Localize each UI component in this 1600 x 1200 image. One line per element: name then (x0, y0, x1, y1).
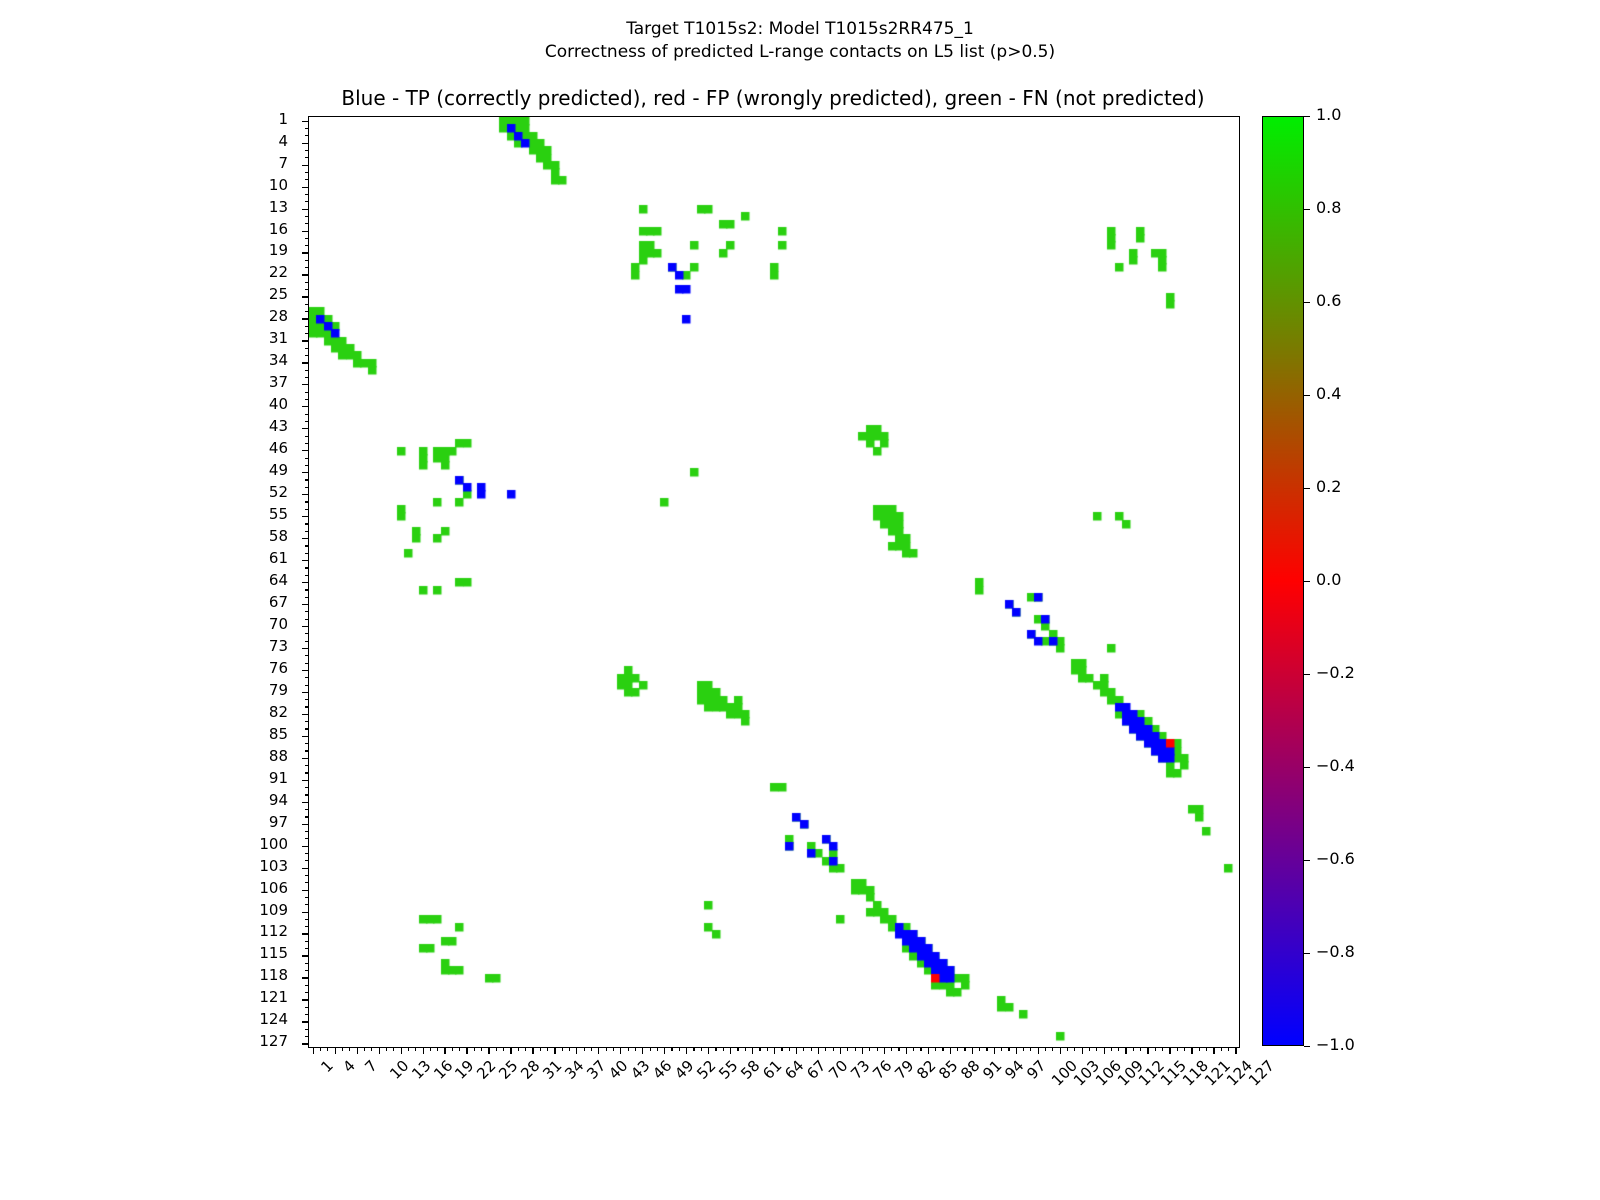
y-tick-label: 109 (259, 903, 288, 918)
x-tick-major (664, 1047, 665, 1054)
colorbar-tick-label: 1.0 (1316, 107, 1341, 123)
contact-map-canvas (309, 117, 1239, 1047)
x-tick-minor (957, 1047, 958, 1051)
figure-title-line-2: Correctness of predicted L-range contact… (0, 41, 1600, 64)
x-tick-major (1125, 1047, 1126, 1054)
y-tick-label: 121 (259, 990, 288, 1005)
y-tick-major (302, 912, 309, 913)
x-tick-minor (1184, 1047, 1185, 1051)
x-tick-minor (1045, 1047, 1046, 1051)
y-tick-major (302, 121, 309, 122)
x-tick-minor (935, 1047, 936, 1051)
x-tick-major (554, 1047, 555, 1054)
y-tick-minor (305, 223, 309, 224)
x-tick-minor (1074, 1047, 1075, 1051)
y-tick-minor (305, 465, 309, 466)
x-tick-major (928, 1047, 929, 1054)
x-tick-major (818, 1047, 819, 1054)
colorbar-tick (1304, 116, 1310, 117)
y-tick-major (302, 472, 309, 473)
x-tick-minor (562, 1047, 563, 1051)
y-tick-minor (305, 194, 309, 195)
colorbar-tick (1304, 209, 1310, 210)
y-tick-minor (305, 150, 309, 151)
x-tick-minor (393, 1047, 394, 1051)
y-tick-minor (305, 597, 309, 598)
y-tick-minor (305, 728, 309, 729)
figure-title-line-1: Target T1015s2: Model T1015s2RR475_1 (0, 18, 1600, 41)
colorbar: 1.00.80.60.40.20.0−0.2−0.4−0.6−0.8−1.0 (1262, 116, 1304, 1046)
x-tick-minor (855, 1047, 856, 1051)
x-tick-minor (942, 1047, 943, 1051)
y-tick-minor (305, 267, 309, 268)
colorbar-tick-label: 0.8 (1316, 200, 1341, 216)
x-tick-minor (459, 1047, 460, 1051)
y-tick-minor (305, 853, 309, 854)
y-tick-label: 13 (269, 200, 288, 215)
y-tick-major (302, 868, 309, 869)
y-tick-major (302, 714, 309, 715)
y-tick-major (302, 802, 309, 803)
y-tick-minor (305, 963, 309, 964)
x-tick-minor (671, 1047, 672, 1051)
x-tick-major (1016, 1047, 1017, 1054)
y-tick-major (302, 1021, 309, 1022)
y-tick-minor (305, 501, 309, 502)
y-tick-minor (305, 216, 309, 217)
x-tick-major (401, 1047, 402, 1054)
y-tick-label: 28 (269, 309, 288, 324)
y-tick-label: 1 (278, 112, 288, 127)
colorbar-tick (1304, 302, 1310, 303)
y-tick-minor (305, 1029, 309, 1030)
y-tick-minor (305, 172, 309, 173)
x-tick-label: 97 (1024, 1058, 1048, 1082)
x-tick-major (532, 1047, 533, 1054)
y-tick-label: 16 (269, 222, 288, 237)
x-tick-minor (891, 1047, 892, 1051)
y-tick-minor (305, 355, 309, 356)
y-tick-label: 79 (269, 683, 288, 698)
x-tick-minor (518, 1047, 519, 1051)
x-tick-major (1060, 1047, 1061, 1054)
x-tick-minor (503, 1047, 504, 1051)
y-tick-minor (305, 838, 309, 839)
y-tick-minor (305, 641, 309, 642)
y-tick-label: 127 (259, 1034, 288, 1049)
x-tick-minor (496, 1047, 497, 1051)
x-tick-minor (877, 1047, 878, 1051)
x-tick-minor (715, 1047, 716, 1051)
y-tick-minor (305, 882, 309, 883)
y-tick-minor (305, 545, 309, 546)
y-tick-label: 55 (269, 507, 288, 522)
x-tick-minor (811, 1047, 812, 1051)
y-tick-minor (305, 1007, 309, 1008)
y-tick-label: 49 (269, 463, 288, 478)
y-tick-minor (305, 750, 309, 751)
x-tick-minor (1067, 1047, 1068, 1051)
y-tick-major (302, 758, 309, 759)
y-tick-label: 124 (259, 1012, 288, 1027)
x-tick-minor (635, 1047, 636, 1051)
x-tick-label: 127 (1247, 1058, 1278, 1089)
x-tick-major (1082, 1047, 1083, 1054)
y-tick-major (302, 604, 309, 605)
x-tick-minor (327, 1047, 328, 1051)
x-tick-minor (320, 1047, 321, 1051)
y-tick-minor (305, 531, 309, 532)
y-tick-label: 46 (269, 441, 288, 456)
x-tick-minor (569, 1047, 570, 1051)
x-tick-minor (474, 1047, 475, 1051)
x-tick-major (972, 1047, 973, 1054)
y-tick-major (302, 1043, 309, 1044)
y-tick-minor (305, 619, 309, 620)
x-tick-minor (481, 1047, 482, 1051)
y-tick-major (302, 999, 309, 1000)
x-tick-major (730, 1047, 731, 1054)
x-tick-major (379, 1047, 380, 1054)
y-tick-label: 88 (269, 749, 288, 764)
x-tick-minor (803, 1047, 804, 1051)
x-tick-minor (1177, 1047, 1178, 1051)
y-tick-major (302, 560, 309, 561)
y-tick-major (302, 274, 309, 275)
y-tick-minor (305, 706, 309, 707)
x-tick-major (598, 1047, 599, 1054)
x-tick-major (1038, 1047, 1039, 1054)
y-tick-minor (305, 655, 309, 656)
x-tick-major (708, 1047, 709, 1054)
y-tick-minor (305, 985, 309, 986)
y-tick-minor (305, 135, 309, 136)
x-tick-minor (606, 1047, 607, 1051)
colorbar-tick (1304, 488, 1310, 489)
x-tick-minor (1001, 1047, 1002, 1051)
y-tick-label: 91 (269, 771, 288, 786)
colorbar-tick (1304, 1046, 1310, 1047)
y-tick-minor (305, 509, 309, 510)
y-tick-major (302, 516, 309, 517)
y-tick-minor (305, 1014, 309, 1015)
y-tick-label: 19 (269, 243, 288, 258)
x-tick-major (313, 1047, 314, 1054)
y-tick-label: 103 (259, 859, 288, 874)
x-tick-minor (898, 1047, 899, 1051)
y-tick-label: 97 (269, 815, 288, 830)
x-tick-minor (693, 1047, 694, 1051)
x-tick-major (335, 1047, 336, 1054)
x-tick-minor (869, 1047, 870, 1051)
y-tick-minor (305, 399, 309, 400)
x-tick-minor (650, 1047, 651, 1051)
x-tick-minor (1118, 1047, 1119, 1051)
x-tick-minor (745, 1047, 746, 1051)
y-tick-major (302, 165, 309, 166)
y-tick-major (302, 494, 309, 495)
y-tick-minor (305, 948, 309, 949)
y-tick-label: 67 (269, 595, 288, 610)
x-tick-minor (430, 1047, 431, 1051)
y-tick-minor (305, 816, 309, 817)
x-tick-major (423, 1047, 424, 1054)
y-tick-major (302, 231, 309, 232)
y-tick-label: 115 (259, 946, 288, 961)
colorbar-tick-label: −1.0 (1316, 1037, 1355, 1053)
y-tick-label: 31 (269, 331, 288, 346)
y-tick-minor (305, 787, 309, 788)
y-tick-label: 64 (269, 573, 288, 588)
y-tick-major (302, 824, 309, 825)
x-tick-major (1213, 1047, 1214, 1054)
x-tick-minor (781, 1047, 782, 1051)
x-tick-major (796, 1047, 797, 1054)
y-tick-minor (305, 289, 309, 290)
y-tick-minor (305, 157, 309, 158)
x-tick-major (774, 1047, 775, 1054)
y-tick-minor (305, 282, 309, 283)
y-tick-label: 85 (269, 727, 288, 742)
colorbar-tick-label: 0.0 (1316, 572, 1341, 588)
x-tick-major (1235, 1047, 1236, 1054)
x-tick-minor (1228, 1047, 1229, 1051)
x-tick-minor (584, 1047, 585, 1051)
contact-map-plot (308, 116, 1240, 1048)
y-tick-minor (305, 553, 309, 554)
x-tick-minor (789, 1047, 790, 1051)
x-tick-major (1104, 1047, 1105, 1054)
y-tick-minor (305, 421, 309, 422)
y-tick-minor (305, 633, 309, 634)
x-tick-minor (1221, 1047, 1222, 1051)
y-tick-minor (305, 260, 309, 261)
y-tick-minor (305, 970, 309, 971)
colorbar-tick-label: −0.2 (1316, 665, 1355, 681)
y-tick-major (302, 428, 309, 429)
x-tick-minor (1096, 1047, 1097, 1051)
x-tick-label: 1 (318, 1058, 335, 1075)
x-tick-minor (408, 1047, 409, 1051)
x-tick-major (357, 1047, 358, 1054)
x-tick-minor (1111, 1047, 1112, 1051)
x-tick-minor (920, 1047, 921, 1051)
y-tick-major (302, 143, 309, 144)
y-tick-minor (305, 794, 309, 795)
y-tick-label: 10 (269, 178, 288, 193)
y-tick-label: 100 (259, 837, 288, 852)
x-tick-major (1191, 1047, 1192, 1054)
x-tick-minor (386, 1047, 387, 1051)
x-tick-minor (1162, 1047, 1163, 1051)
x-tick-major (752, 1047, 753, 1054)
colorbar-tick (1304, 674, 1310, 675)
colorbar-tick (1304, 953, 1310, 954)
y-tick-minor (305, 245, 309, 246)
y-tick-minor (305, 333, 309, 334)
colorbar-tick-label: −0.6 (1316, 851, 1355, 867)
y-tick-minor (305, 201, 309, 202)
y-tick-minor (305, 392, 309, 393)
x-tick-minor (364, 1047, 365, 1051)
x-tick-minor (1133, 1047, 1134, 1051)
y-tick-label: 4 (278, 134, 288, 149)
y-tick-label: 76 (269, 661, 288, 676)
y-tick-minor (305, 370, 309, 371)
x-tick-major (466, 1047, 467, 1054)
x-tick-major (620, 1047, 621, 1054)
y-tick-minor (305, 772, 309, 773)
y-tick-label: 94 (269, 793, 288, 808)
y-tick-major (302, 955, 309, 956)
x-tick-major (884, 1047, 885, 1054)
y-tick-major (302, 252, 309, 253)
y-tick-minor (305, 458, 309, 459)
y-tick-major (302, 384, 309, 385)
y-tick-minor (305, 311, 309, 312)
x-tick-minor (986, 1047, 987, 1051)
y-tick-minor (305, 765, 309, 766)
y-tick-minor (305, 487, 309, 488)
y-tick-minor (305, 663, 309, 664)
x-tick-major (444, 1047, 445, 1054)
y-tick-minor (305, 992, 309, 993)
y-tick-major (302, 582, 309, 583)
x-tick-major (994, 1047, 995, 1054)
y-tick-minor (305, 377, 309, 378)
y-tick-minor (305, 919, 309, 920)
y-tick-major (302, 362, 309, 363)
x-tick-minor (525, 1047, 526, 1051)
y-tick-major (302, 933, 309, 934)
y-tick-label: 25 (269, 287, 288, 302)
y-tick-minor (305, 677, 309, 678)
x-tick-minor (767, 1047, 768, 1051)
y-tick-major (302, 890, 309, 891)
x-tick-minor (913, 1047, 914, 1051)
y-tick-minor (305, 567, 309, 568)
axes-legend-title: Blue - TP (correctly predicted), red - F… (308, 86, 1238, 110)
x-tick-minor (342, 1047, 343, 1051)
y-tick-label: 61 (269, 551, 288, 566)
y-tick-minor (305, 575, 309, 576)
x-tick-minor (759, 1047, 760, 1051)
x-tick-minor (833, 1047, 834, 1051)
y-tick-label: 70 (269, 617, 288, 632)
y-tick-major (302, 648, 309, 649)
colorbar-tick (1304, 581, 1310, 582)
x-tick-minor (1199, 1047, 1200, 1051)
x-tick-minor (591, 1047, 592, 1051)
y-tick-major (302, 318, 309, 319)
colorbar-tick-label: −0.8 (1316, 944, 1355, 960)
x-tick-minor (979, 1047, 980, 1051)
y-tick-minor (305, 831, 309, 832)
y-tick-minor (305, 926, 309, 927)
x-tick-minor (437, 1047, 438, 1051)
x-tick-major (510, 1047, 511, 1054)
y-tick-minor (305, 809, 309, 810)
x-tick-major (906, 1047, 907, 1054)
x-tick-minor (701, 1047, 702, 1051)
x-tick-minor (547, 1047, 548, 1051)
x-tick-minor (847, 1047, 848, 1051)
x-tick-minor (657, 1047, 658, 1051)
y-tick-minor (305, 743, 309, 744)
colorbar-tick (1304, 860, 1310, 861)
y-tick-minor (305, 304, 309, 305)
y-tick-major (302, 340, 309, 341)
x-tick-minor (415, 1047, 416, 1051)
x-tick-major (686, 1047, 687, 1054)
y-tick-major (302, 406, 309, 407)
y-tick-major (302, 736, 309, 737)
y-tick-label: 43 (269, 419, 288, 434)
colorbar-gradient (1262, 116, 1304, 1046)
x-tick-minor (349, 1047, 350, 1051)
y-tick-minor (305, 523, 309, 524)
y-tick-label: 106 (259, 881, 288, 896)
y-tick-major (302, 780, 309, 781)
x-tick-minor (1052, 1047, 1053, 1051)
colorbar-tick (1304, 395, 1310, 396)
x-tick-minor (737, 1047, 738, 1051)
y-tick-minor (305, 436, 309, 437)
y-tick-major (302, 670, 309, 671)
x-tick-minor (1206, 1047, 1207, 1051)
x-tick-minor (1089, 1047, 1090, 1051)
figure-title-block: Target T1015s2: Model T1015s2RR475_1 Cor… (0, 18, 1600, 64)
y-tick-label: 22 (269, 265, 288, 280)
x-tick-minor (964, 1047, 965, 1051)
y-tick-minor (305, 897, 309, 898)
y-tick-minor (305, 904, 309, 905)
x-tick-minor (613, 1047, 614, 1051)
x-tick-major (576, 1047, 577, 1054)
y-tick-minor (305, 860, 309, 861)
y-tick-minor (305, 348, 309, 349)
x-tick-minor (1140, 1047, 1141, 1051)
y-tick-minor (305, 128, 309, 129)
x-tick-minor (1023, 1047, 1024, 1051)
y-tick-minor (305, 721, 309, 722)
y-tick-label: 40 (269, 397, 288, 412)
x-tick-major (1169, 1047, 1170, 1054)
x-tick-major (642, 1047, 643, 1054)
x-tick-label: 7 (362, 1058, 379, 1075)
x-tick-minor (1008, 1047, 1009, 1051)
colorbar-tick-label: −0.4 (1316, 758, 1355, 774)
y-tick-minor (305, 479, 309, 480)
x-tick-minor (679, 1047, 680, 1051)
y-tick-minor (305, 941, 309, 942)
y-tick-minor (305, 699, 309, 700)
y-tick-label: 118 (259, 968, 288, 983)
x-tick-label: 4 (340, 1058, 357, 1075)
y-tick-label: 7 (278, 156, 288, 171)
y-tick-major (302, 692, 309, 693)
x-tick-major (950, 1047, 951, 1054)
colorbar-tick (1304, 767, 1310, 768)
y-tick-label: 37 (269, 375, 288, 390)
y-tick-minor (305, 414, 309, 415)
colorbar-tick-label: 0.6 (1316, 293, 1341, 309)
x-tick-minor (825, 1047, 826, 1051)
y-tick-minor (305, 326, 309, 327)
y-tick-major (302, 846, 309, 847)
x-tick-minor (540, 1047, 541, 1051)
colorbar-tick-label: 0.4 (1316, 386, 1341, 402)
